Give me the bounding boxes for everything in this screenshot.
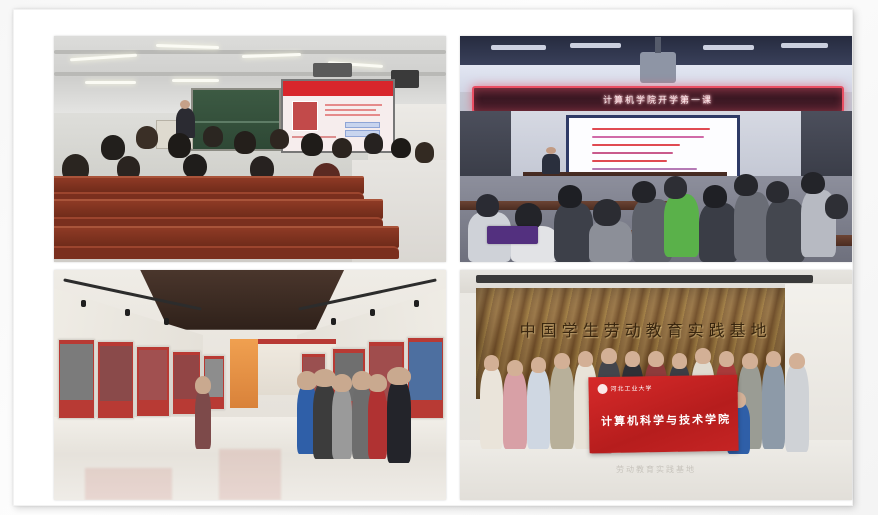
light-tube: [172, 79, 219, 82]
audience-head: [301, 133, 323, 156]
group-member-head: [531, 357, 547, 373]
slide-text-line: [325, 114, 380, 116]
lecture-hall-scene: [54, 36, 446, 262]
group-member-body: [503, 371, 527, 449]
audience-head: [183, 154, 207, 179]
ceiling-light: [491, 45, 546, 50]
audience-head: [766, 181, 790, 204]
audience-head: [101, 135, 125, 160]
audience-body: [664, 194, 699, 257]
slide-line: [592, 136, 703, 138]
group-member-head: [742, 353, 758, 369]
floor-reflection: [219, 449, 282, 500]
audience-body: [766, 199, 805, 262]
audience-head: [632, 181, 656, 204]
banner-department-text: 计算机科学与技术学院: [601, 411, 726, 429]
group-member-head: [648, 351, 664, 367]
exhibit-panel-caption: [408, 402, 443, 418]
audience-head: [332, 138, 352, 158]
exhibit-panel: [407, 337, 444, 420]
group-member-head: [719, 351, 735, 367]
desk-row: [54, 226, 399, 248]
group-member-body: [480, 367, 504, 450]
exhibit-panel-caption: [59, 403, 94, 419]
group-member-head: [766, 351, 782, 367]
audience-head: [801, 172, 825, 195]
badge-label: [487, 226, 538, 244]
photo-conference-hall[interactable]: 计算机学院开学第一课: [460, 36, 852, 262]
document-page-card: 计算机学院开学第一课: [13, 9, 853, 506]
group-member-head: [507, 360, 523, 376]
audience-body: [734, 192, 769, 260]
group-member-head: [554, 353, 570, 369]
slide-text-line: [325, 109, 375, 111]
slide-header: [283, 81, 393, 96]
photo-grid: 计算机学院开学第一课: [54, 36, 852, 500]
group-member-head: [625, 351, 641, 367]
visitor-head: [195, 376, 211, 394]
slide-portrait: [292, 101, 318, 131]
floor-reflection-text: 劳动教育实践基地: [578, 464, 735, 475]
ceiling-light: [570, 43, 621, 48]
ceiling-light-bar: [476, 275, 813, 283]
audience-head: [703, 185, 727, 208]
desk-row: [54, 199, 383, 219]
group-member-head: [695, 348, 711, 364]
mural-calligraphy-text: 中国学生劳动教育实践基地: [520, 317, 746, 341]
audience-head: [168, 133, 192, 158]
visitor-head: [387, 367, 411, 385]
orange-column: [230, 339, 257, 408]
department-banner: 河北工业大学 计算机科学与技术学院: [589, 375, 739, 453]
screenshot-viewport: 计算机学院开学第一课: [0, 0, 878, 515]
group-member-body: [785, 364, 809, 451]
spotlight-icon: [414, 300, 419, 307]
spotlight-icon: [81, 300, 86, 307]
ceiling-light: [703, 45, 754, 50]
spotlight-icon: [370, 309, 375, 316]
audience-head: [203, 126, 223, 146]
wall-speaker-icon: [391, 70, 418, 88]
group-member-head: [672, 353, 688, 369]
group-member-head: [578, 351, 594, 367]
ceiling-beam: [54, 72, 446, 76]
audience-body: [589, 221, 632, 262]
led-banner: 计算机学院开学第一课: [472, 86, 844, 114]
slide-line: [592, 160, 666, 162]
spotlight-icon: [331, 318, 336, 325]
university-name-text: 河北工业大学: [611, 383, 653, 393]
audience-head: [391, 138, 411, 158]
exhibit-panel-image: [139, 350, 168, 400]
photo-exhibition-corridor[interactable]: [54, 270, 446, 500]
exhibit-panel-image: [60, 344, 92, 400]
group-member-body: [550, 364, 574, 449]
spotlight-icon: [164, 318, 169, 325]
spotlight-icon: [125, 309, 130, 316]
visitor-figure: [368, 387, 388, 458]
audience-head: [415, 142, 435, 162]
visitor-head: [368, 374, 388, 392]
exhibit-panel-caption: [98, 403, 133, 418]
wood-slat-ceiling: [140, 270, 344, 330]
audience-head: [558, 185, 582, 208]
group-member-head: [601, 348, 617, 364]
logo-mark-icon: [598, 384, 608, 394]
right-wall-panel: [801, 111, 852, 179]
audience-head: [476, 194, 500, 217]
photo-group-banner[interactable]: 中国学生劳动教育实践基地 河北工业大学 计算机科学与技术学院 劳动教育实践基地: [460, 270, 852, 500]
ceiling-light: [781, 43, 828, 48]
audience-body: [554, 203, 593, 262]
visitor-figure: [195, 390, 211, 450]
conference-hall-scene: 计算机学院开学第一课: [460, 36, 852, 262]
exhibit-panel: [58, 339, 95, 419]
exhibit-panel: [97, 341, 134, 419]
audience-head: [136, 126, 158, 149]
speaker-figure: [542, 154, 560, 174]
photo-lecture-hall[interactable]: [54, 36, 446, 262]
exhibit-panel-image: [174, 355, 199, 400]
audience-head: [593, 199, 620, 226]
audience-head: [270, 129, 290, 149]
exhibit-panel-caption: [137, 402, 168, 416]
exhibit-panel-image: [409, 342, 441, 400]
audience-head: [364, 133, 384, 153]
audience-body: [699, 203, 738, 262]
group-member-head: [789, 353, 805, 369]
group-photo-scene: 中国学生劳动教育实践基地 河北工业大学 计算机科学与技术学院 劳动教育实践基地: [460, 270, 852, 500]
seat-back: [54, 246, 399, 259]
audience-head: [664, 176, 688, 199]
visitor-head: [332, 374, 352, 392]
projector-icon: [313, 63, 352, 77]
group-member-body: [762, 362, 786, 449]
audience-head: [234, 131, 256, 154]
slide-line: [592, 152, 673, 154]
projector-icon: [640, 52, 675, 84]
audience-head: [734, 174, 758, 197]
corridor-scene: [54, 270, 446, 500]
slide-box: [345, 122, 380, 129]
ceiling-beam: [54, 50, 446, 54]
slide-line: [592, 168, 696, 170]
light-tube: [85, 81, 136, 84]
led-banner-text: 计算机学院开学第一课: [603, 93, 713, 106]
visitor-figure: [387, 380, 411, 463]
group-member-head: [484, 355, 500, 371]
left-wall-panel: [460, 111, 511, 179]
visitor-figure: [332, 387, 352, 458]
university-logo: 河北工业大学: [598, 383, 653, 394]
exhibit-panel-image: [100, 346, 132, 401]
floor-reflection: [85, 468, 171, 500]
exhibit-panel: [136, 346, 169, 417]
group-member-body: [527, 369, 551, 450]
slide-line: [592, 128, 710, 130]
slide-line: [592, 144, 680, 146]
slide-text-line: [325, 104, 382, 106]
audience-head: [825, 194, 849, 219]
